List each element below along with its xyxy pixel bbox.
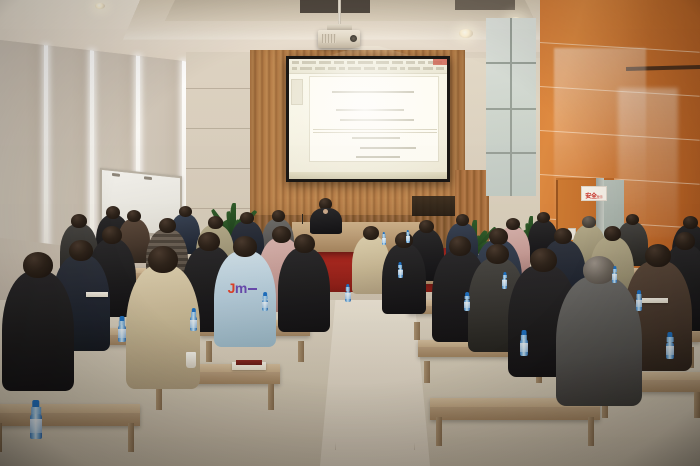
ribbon-chip: [400, 67, 405, 70]
attendee: [556, 256, 642, 386]
water-bottle: [262, 292, 268, 312]
attendee-head: [626, 214, 639, 225]
projector-pole: [338, 0, 341, 26]
attendee-head: [489, 228, 508, 245]
projection-screen: [289, 59, 447, 179]
ribbon-chip: [292, 61, 299, 64]
desk-leg: [588, 417, 594, 446]
bottle-body: [520, 339, 528, 356]
document-text-line: [352, 137, 400, 139]
attendee-head: [645, 244, 671, 267]
desk-leg: [694, 392, 700, 418]
bottle-label: [612, 274, 617, 280]
attendee-head: [294, 234, 315, 253]
attendee-head: [159, 218, 176, 233]
bottle-label: [406, 236, 410, 240]
frosted-glass-window: [486, 18, 536, 196]
attendee-head: [456, 214, 469, 226]
conference-room-photo: 安全警示: [0, 0, 700, 466]
attendee-head: [604, 226, 621, 241]
water-bottle: [666, 332, 674, 359]
attendee: [2, 252, 74, 372]
attendee-head: [148, 246, 178, 273]
ribbon-chip: [408, 67, 420, 70]
bottle-label: [636, 300, 642, 307]
attendee-torso: [382, 244, 426, 314]
bottle-body: [345, 291, 351, 303]
ribbon-chip: [334, 61, 344, 64]
bottle-body: [398, 268, 403, 278]
bottle-body: [636, 297, 642, 310]
attendee-head: [530, 248, 557, 272]
water-bottle: [636, 290, 642, 311]
attendee-head: [71, 214, 87, 228]
attendee-head: [583, 256, 615, 284]
document-ribbon-toolbar: [289, 59, 447, 74]
papers: [86, 292, 108, 297]
desk-front: [0, 412, 140, 426]
desk-leg: [268, 384, 274, 410]
water-bottle: [520, 330, 528, 356]
ribbon-chip: [315, 67, 325, 70]
ceiling-projector: [318, 30, 360, 48]
jacket-back-logo: Jm: [228, 280, 257, 296]
ribbon-chip: [319, 61, 331, 64]
water-bottle: [612, 266, 617, 283]
attendee-head: [240, 212, 254, 224]
bottle-label: [190, 320, 197, 328]
bottle-label: [30, 419, 42, 432]
attendee-head: [208, 216, 223, 229]
attendee-head: [179, 206, 192, 217]
book: [236, 360, 262, 365]
attendee: Jm: [214, 236, 276, 332]
water-bottle: [406, 230, 410, 243]
ribbon-chip: [423, 67, 433, 70]
attendee-head: [272, 210, 285, 222]
water-bottle: [190, 308, 197, 331]
water-bottle: [382, 232, 386, 245]
bottle-label: [398, 270, 403, 275]
bottle-body: [612, 272, 617, 283]
attendee-head: [127, 210, 141, 222]
ribbon-chip: [339, 67, 345, 70]
water-bottle: [345, 284, 351, 302]
attendee-torso: [2, 271, 74, 391]
projection-screen-frame: [286, 56, 450, 182]
paper-cup: [186, 352, 196, 368]
attendee-head: [395, 232, 413, 248]
bottle-label: [382, 238, 386, 242]
desk-front: [430, 406, 600, 420]
bottle-body: [190, 316, 197, 331]
ribbon-chip: [406, 61, 415, 64]
desk-leg: [0, 423, 2, 452]
document-thumbnail-pane: [291, 79, 303, 105]
papers: [642, 298, 668, 303]
bottle-body: [262, 299, 268, 311]
desk-leg: [414, 322, 420, 340]
document-text-line: [360, 147, 416, 149]
water-bottle: [502, 272, 507, 289]
bottle-body: [502, 278, 507, 289]
document-text-line: [340, 119, 414, 121]
attendee-head: [486, 244, 509, 264]
bottle-body: [30, 414, 42, 439]
desk-leg: [436, 417, 442, 446]
water-bottle: [118, 316, 126, 342]
bottle-label: [464, 302, 470, 309]
bottle-body: [666, 342, 674, 359]
bottle-label: [118, 329, 126, 338]
bottle-label: [262, 302, 268, 309]
projector-vent: [322, 34, 336, 43]
desk: [0, 404, 140, 426]
water-bottle: [30, 400, 42, 439]
ribbon-chip: [358, 61, 373, 64]
attendee: [278, 234, 330, 318]
desk-top: [0, 404, 140, 413]
water-bottle: [398, 262, 403, 278]
ceiling-vent-slot-2: [455, 0, 515, 10]
ribbon-chip: [328, 67, 336, 70]
ribbon-chip: [436, 67, 444, 70]
desk-leg: [424, 361, 430, 383]
attendee-torso: [556, 276, 642, 406]
attendee-torso: [126, 265, 200, 389]
attendee-head: [363, 226, 379, 240]
document-text-line: [332, 91, 414, 93]
projector-lens-icon: [350, 35, 357, 42]
water-bottle: [464, 292, 470, 312]
bottle-body: [464, 299, 470, 311]
attendee-head: [233, 236, 257, 257]
attendee-torso: [278, 248, 330, 332]
attendee-head: [683, 216, 698, 229]
os-taskbar: [289, 172, 447, 179]
ribbon-chip: [300, 67, 312, 70]
window-close-icon: [433, 59, 447, 65]
ribbon-chip: [418, 61, 425, 64]
attendee-head: [554, 228, 572, 244]
red-notice-sign: 安全警示: [581, 186, 607, 201]
bottle-label: [345, 293, 351, 299]
ribbon-chip: [364, 67, 375, 70]
bottle-label: [502, 280, 507, 286]
ribbon-chip: [376, 61, 389, 64]
ribbon-chip: [392, 61, 403, 64]
sign-primary-text: 安全: [585, 194, 596, 200]
ribbon-chip: [347, 61, 355, 64]
attendee: [382, 232, 426, 302]
bottle-body: [382, 237, 386, 245]
document-page: [309, 76, 439, 162]
ribbon-chip: [348, 67, 361, 70]
desk-leg: [206, 341, 212, 362]
document-text-line: [336, 109, 404, 111]
ribbon-chip: [292, 67, 297, 70]
bottle-label: [666, 346, 674, 355]
desk-leg: [128, 423, 134, 452]
bottle-label: [520, 343, 528, 352]
ribbon-chip: [378, 67, 387, 70]
document-text-line: [356, 156, 400, 158]
attendee-head: [537, 212, 550, 223]
ceiling-vent-slot: [300, 0, 370, 13]
ribbon-chip: [390, 67, 397, 70]
desk-leg: [298, 341, 304, 362]
ribbon-chip: [302, 61, 316, 64]
bottle-body: [406, 235, 410, 243]
bottle-body: [118, 325, 126, 342]
attendee-head: [23, 252, 53, 278]
downlight-icon: [459, 29, 473, 38]
sign-secondary-text: 警示: [597, 195, 603, 199]
